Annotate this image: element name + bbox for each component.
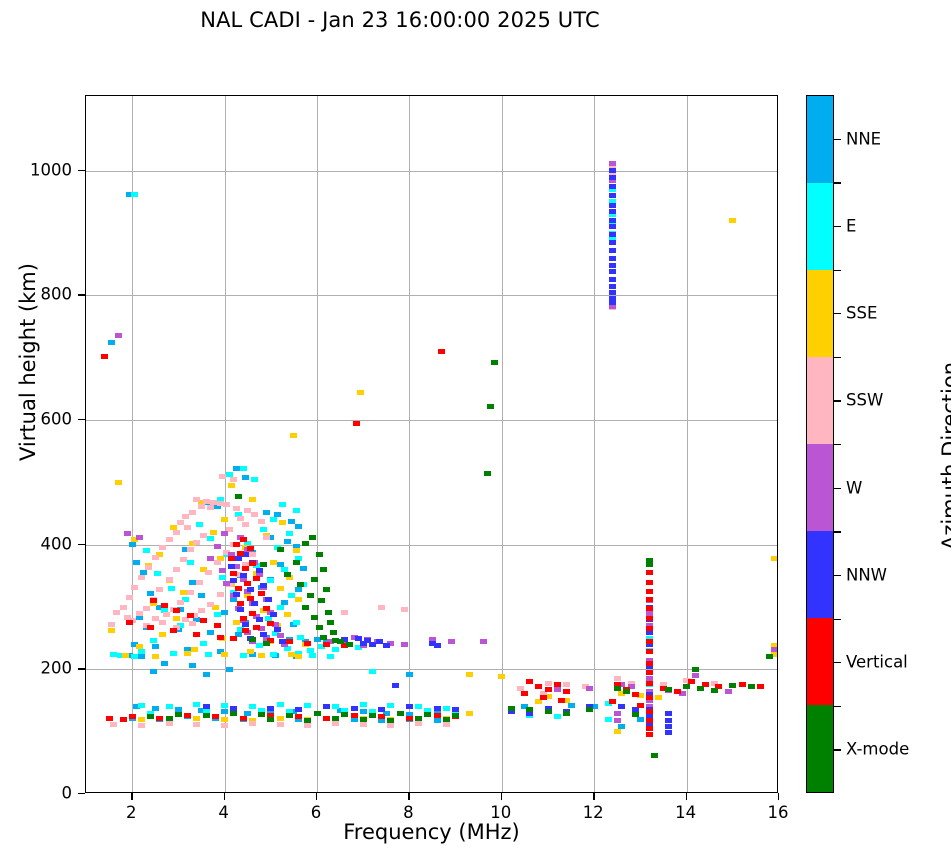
data-point	[247, 649, 254, 654]
colorbar-boundary-tick	[834, 444, 841, 445]
data-point	[136, 535, 143, 540]
data-point	[346, 642, 353, 647]
data-point	[270, 612, 277, 617]
data-point	[193, 632, 200, 637]
data-point	[293, 560, 300, 565]
data-point	[187, 560, 194, 565]
data-point	[554, 714, 561, 719]
data-point	[143, 606, 150, 611]
data-point	[131, 192, 138, 197]
colorbar-segment-ssw[interactable]	[807, 357, 833, 444]
data-point	[247, 596, 254, 601]
data-point	[138, 703, 145, 708]
colorbar-tick	[834, 226, 841, 227]
data-point	[260, 562, 267, 567]
data-point	[330, 630, 337, 635]
data-point	[351, 706, 358, 711]
data-point	[665, 687, 672, 692]
data-point	[279, 520, 286, 525]
data-point	[166, 704, 173, 709]
data-point	[180, 557, 187, 562]
ionogram-data-points	[86, 96, 777, 792]
data-point	[247, 587, 254, 592]
data-point	[277, 716, 284, 721]
data-point	[286, 531, 293, 536]
data-point	[284, 572, 291, 577]
data-point	[207, 630, 214, 635]
data-point	[637, 703, 644, 708]
data-point	[434, 713, 441, 718]
data-point	[609, 277, 616, 282]
data-point	[235, 586, 242, 591]
colorbar-boundary-tick	[834, 706, 841, 707]
data-point	[614, 711, 621, 716]
data-point	[297, 582, 304, 587]
data-point	[545, 687, 552, 692]
data-point	[108, 622, 115, 627]
data-point	[609, 203, 616, 208]
data-point	[332, 647, 339, 652]
x-tick	[686, 793, 687, 800]
data-point	[320, 567, 327, 572]
data-point	[646, 580, 653, 585]
data-point	[189, 663, 196, 668]
data-point	[609, 161, 616, 166]
data-point	[203, 713, 210, 718]
data-point	[242, 566, 249, 571]
colorbar-label-ssw: SSW	[846, 391, 883, 410]
colorbar-segment-w[interactable]	[807, 444, 833, 531]
data-point	[378, 605, 385, 610]
data-point	[526, 707, 533, 712]
data-point	[106, 716, 113, 721]
data-point	[284, 612, 291, 617]
data-point	[632, 692, 639, 697]
data-point	[219, 575, 226, 580]
data-point	[309, 535, 316, 540]
data-point	[152, 654, 159, 659]
data-point	[129, 714, 136, 719]
colorbar-tick	[834, 313, 841, 314]
data-point	[609, 284, 616, 289]
data-point	[120, 717, 127, 722]
data-point	[260, 583, 267, 588]
colorbar-boundary-tick	[834, 531, 841, 532]
colorbar-tick	[834, 662, 841, 663]
data-point	[277, 633, 284, 638]
data-point	[228, 483, 235, 488]
data-point	[242, 522, 249, 527]
data-point	[156, 716, 163, 721]
data-point	[401, 642, 408, 647]
data-point	[323, 587, 330, 592]
data-point	[360, 709, 367, 714]
data-point	[725, 689, 732, 694]
data-point	[293, 620, 300, 625]
data-point	[614, 676, 621, 681]
data-point	[138, 654, 145, 659]
data-point	[108, 628, 115, 633]
data-point	[260, 632, 267, 637]
data-point	[147, 714, 154, 719]
colorbar-label-sse: SSE	[846, 304, 877, 323]
data-point	[545, 681, 552, 686]
data-point	[221, 703, 228, 708]
data-point	[487, 404, 494, 409]
data-point	[674, 689, 681, 694]
data-point	[228, 556, 235, 561]
x-tick	[131, 793, 132, 800]
data-point	[318, 598, 325, 603]
data-point	[240, 573, 247, 578]
data-point	[771, 647, 778, 652]
data-point	[311, 577, 318, 582]
data-point	[189, 621, 196, 626]
data-point	[205, 570, 212, 575]
data-point	[332, 721, 339, 726]
data-point	[166, 721, 173, 726]
data-point	[353, 421, 360, 426]
data-point	[244, 581, 251, 586]
data-point	[242, 475, 249, 480]
data-point	[237, 601, 244, 606]
data-point	[438, 349, 445, 354]
data-point	[207, 602, 214, 607]
data-point	[226, 667, 233, 672]
data-point	[646, 562, 653, 567]
data-point	[198, 608, 205, 613]
data-point	[230, 578, 237, 583]
x-tick	[778, 793, 779, 800]
data-point	[163, 612, 170, 617]
colorbar-label: Azimuth Direction	[938, 216, 951, 696]
x-tick	[593, 793, 594, 800]
colorbar-label-x-mode: X-mode	[846, 740, 909, 759]
data-point	[136, 644, 143, 649]
data-point	[387, 718, 394, 723]
data-point	[609, 193, 616, 198]
data-point	[267, 717, 274, 722]
data-point	[316, 552, 323, 557]
data-point	[251, 601, 258, 606]
data-point	[554, 682, 561, 687]
colorbar-segment-vertical[interactable]	[807, 618, 833, 705]
data-point	[205, 652, 212, 657]
data-point	[748, 684, 755, 689]
data-point	[235, 494, 242, 499]
data-point	[235, 556, 242, 561]
colorbar-segment-e[interactable]	[807, 183, 833, 270]
data-point	[397, 711, 404, 716]
data-point	[383, 643, 390, 648]
data-point	[286, 639, 293, 644]
data-point	[771, 556, 778, 561]
data-point	[609, 175, 616, 180]
data-point	[279, 502, 286, 507]
data-point	[415, 716, 422, 721]
data-point	[443, 717, 450, 722]
data-point	[193, 716, 200, 721]
data-point	[217, 635, 224, 640]
data-point	[697, 686, 704, 691]
data-point	[711, 688, 718, 693]
colorbar-segment-nnw[interactable]	[807, 531, 833, 618]
data-point	[415, 704, 422, 709]
data-point	[129, 542, 136, 547]
data-point	[207, 536, 214, 541]
data-point	[665, 718, 672, 723]
data-point	[263, 510, 270, 515]
colorbar-segment-nne[interactable]	[807, 96, 833, 183]
data-point	[173, 608, 180, 613]
data-point	[200, 618, 207, 623]
data-point	[314, 711, 321, 716]
data-point	[173, 530, 180, 535]
data-point	[729, 218, 736, 223]
data-point	[147, 625, 154, 630]
data-point	[233, 592, 240, 597]
page-title: NAL CADI - Jan 23 16:00:00 2025 UTC	[0, 8, 800, 32]
data-point	[110, 652, 117, 657]
data-point	[609, 232, 616, 237]
colorbar-tick	[834, 400, 841, 401]
data-point	[646, 661, 653, 666]
data-point	[200, 533, 207, 538]
data-point	[115, 480, 122, 485]
data-point	[665, 711, 672, 716]
data-point	[466, 711, 473, 716]
y-tick	[78, 419, 85, 420]
data-point	[563, 689, 570, 694]
data-point	[265, 597, 272, 602]
data-point	[242, 628, 249, 633]
data-point	[242, 622, 249, 627]
data-point	[729, 683, 736, 688]
data-point	[646, 570, 653, 575]
data-point	[249, 611, 256, 616]
data-point	[387, 723, 394, 728]
data-point	[609, 240, 616, 245]
data-point	[369, 642, 376, 647]
data-point	[646, 649, 653, 654]
data-point	[258, 712, 265, 717]
data-point	[614, 718, 621, 723]
data-point	[443, 706, 450, 711]
data-point	[249, 497, 256, 502]
data-point	[480, 639, 487, 644]
colorbar-boundary-tick	[834, 182, 841, 183]
data-point	[267, 578, 274, 583]
y-tick	[78, 793, 85, 794]
data-point	[337, 639, 344, 644]
data-point	[263, 535, 270, 540]
data-point	[323, 642, 330, 647]
data-point	[221, 517, 228, 522]
data-point	[237, 516, 244, 521]
data-point	[253, 625, 260, 630]
data-point	[540, 695, 547, 700]
data-point	[207, 505, 214, 510]
data-point	[609, 699, 616, 704]
data-point	[124, 531, 131, 536]
data-point	[332, 704, 339, 709]
data-point	[230, 636, 237, 641]
x-tick	[316, 793, 317, 800]
data-point	[360, 717, 367, 722]
data-point	[187, 613, 194, 618]
data-point	[563, 682, 570, 687]
data-point	[406, 704, 413, 709]
data-point	[341, 610, 348, 615]
data-point	[304, 641, 311, 646]
data-point	[101, 354, 108, 359]
colorbar-tick	[834, 749, 841, 750]
data-point	[683, 684, 690, 689]
data-point	[150, 669, 157, 674]
data-point	[221, 709, 228, 714]
data-point	[196, 522, 203, 527]
y-tick	[78, 668, 85, 669]
data-point	[182, 514, 189, 519]
data-point	[424, 712, 431, 717]
data-point	[646, 732, 653, 737]
data-point	[150, 638, 157, 643]
data-point	[233, 506, 240, 511]
colorbar-label-nnw: NNW	[846, 565, 887, 584]
data-point	[646, 616, 653, 621]
data-point	[609, 263, 616, 268]
data-point	[270, 517, 277, 522]
data-point	[198, 504, 205, 509]
data-point	[210, 530, 217, 535]
data-point	[187, 547, 194, 552]
data-point	[258, 519, 265, 524]
data-point	[184, 525, 191, 530]
data-point	[369, 669, 376, 674]
data-point	[297, 635, 304, 640]
data-point	[692, 667, 699, 672]
colorbar-tick	[834, 575, 841, 576]
data-point	[214, 612, 221, 617]
colorbar-label-vertical: Vertical	[846, 653, 908, 672]
data-point	[609, 256, 616, 261]
colorbar-segment-sse[interactable]	[807, 270, 833, 357]
data-point	[609, 209, 616, 214]
data-point	[609, 269, 616, 274]
data-point	[189, 510, 196, 515]
y-axis-label: Virtual height (km)	[16, 152, 40, 572]
data-point	[484, 471, 491, 476]
data-point	[145, 565, 152, 570]
data-point	[605, 717, 612, 722]
data-point	[491, 360, 498, 365]
data-point	[159, 620, 166, 625]
data-point	[665, 730, 672, 735]
data-point	[558, 698, 565, 703]
data-point	[263, 641, 270, 646]
y-tick	[78, 170, 85, 171]
data-point	[623, 689, 630, 694]
data-point	[618, 704, 625, 709]
data-point	[221, 652, 228, 657]
data-point	[263, 606, 270, 611]
data-point	[253, 576, 260, 581]
data-point	[277, 547, 284, 552]
data-point	[554, 687, 561, 692]
data-point	[609, 300, 616, 305]
data-point	[646, 626, 653, 631]
data-point	[277, 586, 284, 591]
data-point	[219, 474, 226, 479]
data-point	[221, 610, 228, 615]
data-point	[284, 539, 291, 544]
data-point	[692, 673, 699, 678]
data-point	[651, 753, 658, 758]
data-point	[295, 524, 302, 529]
data-point	[378, 707, 385, 712]
data-point	[193, 722, 200, 727]
y-axis-ticks	[0, 95, 85, 793]
data-point	[360, 702, 367, 707]
data-point	[170, 651, 177, 656]
data-point	[161, 661, 168, 666]
data-point	[406, 716, 413, 721]
data-point	[267, 621, 274, 626]
colorbar-tick	[834, 139, 841, 140]
data-point	[293, 508, 300, 513]
data-point	[360, 641, 367, 646]
colorbar-boundary-tick	[834, 619, 841, 620]
data-point	[311, 615, 318, 620]
data-point	[203, 704, 210, 709]
data-point	[378, 714, 385, 719]
data-point	[290, 433, 297, 438]
data-point	[133, 560, 140, 565]
data-point	[143, 548, 150, 553]
data-point	[392, 683, 399, 688]
y-tick	[78, 294, 85, 295]
data-point	[332, 716, 339, 721]
data-point	[646, 718, 653, 723]
data-point	[646, 681, 653, 686]
data-point	[233, 542, 240, 547]
azimuth-colorbar[interactable]	[806, 95, 834, 793]
data-point	[173, 616, 180, 621]
data-point	[136, 611, 143, 616]
data-point	[187, 590, 194, 595]
data-point	[168, 586, 175, 591]
data-point	[300, 566, 307, 571]
data-point	[251, 512, 258, 517]
data-point	[646, 606, 653, 611]
data-point	[122, 653, 129, 658]
data-point	[295, 587, 302, 592]
data-point	[230, 571, 237, 576]
ionogram-plot-area[interactable]	[85, 95, 778, 793]
colorbar-boundary-tick	[834, 270, 841, 271]
data-point	[152, 555, 159, 560]
data-point	[214, 560, 221, 565]
data-point	[320, 635, 327, 640]
data-point	[655, 695, 662, 700]
data-point	[304, 723, 311, 728]
data-point	[609, 184, 616, 189]
data-point	[274, 627, 281, 632]
colorbar-segment-x-mode[interactable]	[807, 705, 833, 792]
data-point	[307, 593, 314, 598]
data-point	[110, 722, 117, 727]
data-point	[191, 647, 198, 652]
